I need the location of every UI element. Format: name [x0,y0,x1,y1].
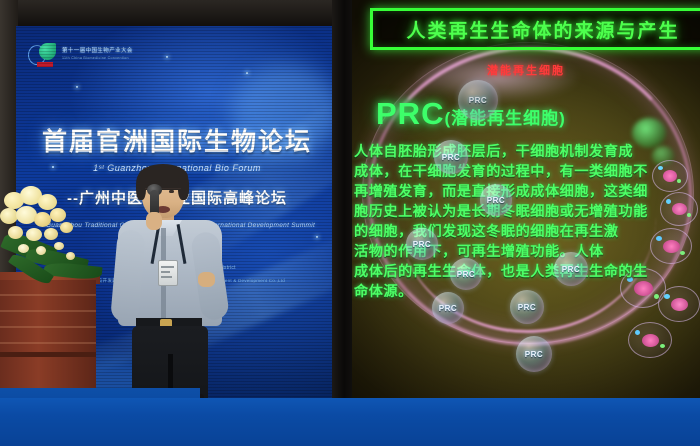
slide-body-line: 的细胞，我们发现这冬眠的细胞在再生激 [354,222,654,242]
slide-red-label: 潜能再生细胞 [352,62,700,78]
slide-body-line: 人体自胚胎形成胚层后，干细胞机制发育成 [354,142,654,162]
cell-diagram [650,228,692,264]
prc-bubble: PRC [406,228,438,260]
prc-bubble: PRC [450,258,482,290]
prc-bubble: PRC [434,140,468,174]
stage-floor [0,398,700,446]
speaker [112,168,228,400]
cell-diagram [658,286,700,322]
slide-body-line: 活物的作用下，可再生增殖功能。人体 [354,242,654,262]
slide-body-line: 命体源。 [354,282,654,302]
convention-logo: 第十一届中国生物产业大会 11th China Biomedicine Conv… [28,42,133,68]
prc-bubble: PRC [480,184,512,216]
banner-title: 首届官洲国际生物论坛 [16,122,338,158]
prc-bubble: PRC [510,290,544,324]
banner-sparkle [76,86,78,88]
speaker-hand-right [198,272,215,287]
projection-screen: 人类再生生命体的来源与产生 潜能再生细胞 PRC (潜能再生细胞) 人体自胚胎形… [352,0,700,400]
logo-text-en: 11th China Biomedicine Convention [62,57,133,61]
podium-trim [0,352,96,357]
name-badge [158,260,178,286]
slide-body-line: 成体，在干细胞发育的过程中，有一类细胞不 [354,162,654,182]
conference-photo: 第十一届中国生物产业大会 11th China Biomedicine Conv… [0,0,700,446]
prc-bubble: PRC [458,80,498,120]
cell-diagram [652,160,688,192]
prc-acronym: PRC [376,96,444,132]
banner-sparkle [316,236,318,238]
banner-sparkle [246,72,248,74]
prc-bubble: PRC [516,336,552,372]
speaker-eye [169,190,174,193]
logo-mark-icon [28,42,58,68]
prc-heading: PRC (潜能再生细胞) [376,96,696,132]
slide-title: 人类再生生命体的来源与产生 [406,16,679,43]
cell-diagram [660,192,698,226]
slide-body-line: 成体后的再生生命体，也是人类再生生命的生 [354,262,654,282]
slide-body-text: 人体自胚胎形成胚层后，干细胞机制发育成 成体，在干细胞发育的过程中，有一类细胞不… [354,142,654,302]
podium [0,280,96,400]
banner-sparkle [166,56,168,58]
prc-bubble: PRC [432,292,464,324]
logo-text-cn: 第十一届中国生物产业大会 [62,49,133,55]
slide-title-box: 人类再生生命体的来源与产生 [370,8,700,50]
speaker-hand-left [146,212,162,230]
cell-diagram [628,322,672,358]
flower-arrangement [0,186,100,290]
prc-bubble: PRC [554,252,588,286]
